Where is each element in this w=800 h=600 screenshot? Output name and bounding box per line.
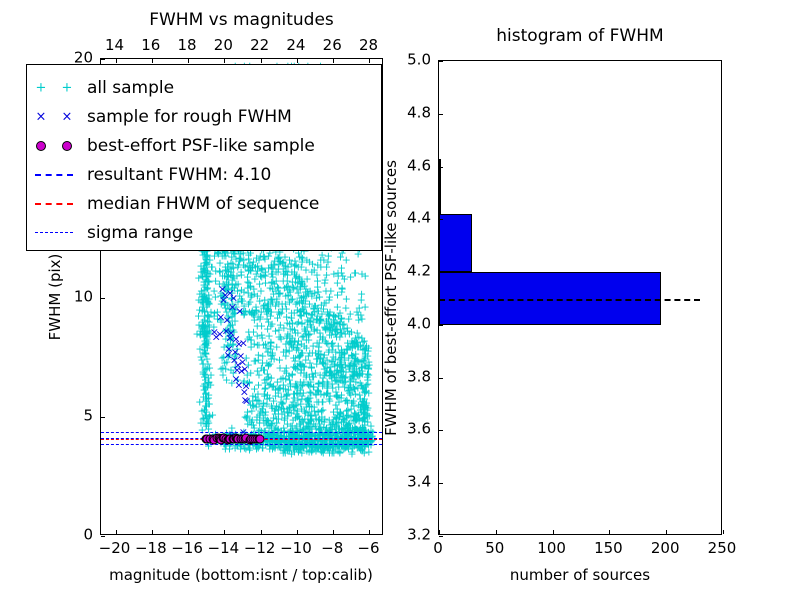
scatter-point-all: +: [249, 327, 258, 338]
scatter-point-all: +: [310, 287, 319, 298]
scatter-point-all: +: [280, 407, 289, 418]
scatter-point-all: +: [293, 360, 302, 371]
scatter-point-all: +: [297, 278, 306, 289]
scatter-point-all: +: [347, 448, 356, 459]
scatter-point-all: +: [297, 261, 306, 272]
scatter-point-all: +: [203, 316, 212, 327]
histogram-plot-area: [439, 61, 721, 534]
scatter-point-all: +: [198, 297, 207, 308]
scatter-point-all: +: [260, 410, 269, 421]
x-tick-top: [116, 59, 117, 63]
hist-y-tick: [439, 536, 443, 537]
scatter-point-all: +: [200, 266, 209, 277]
scatter-point-all: +: [244, 265, 253, 276]
scatter-point-all: +: [199, 319, 208, 330]
scatter-point-all: +: [222, 306, 231, 317]
scatter-point-all: +: [329, 309, 338, 320]
scatter-point-all: +: [277, 298, 286, 309]
scatter-point-all: +: [239, 306, 248, 317]
scatter-point-all: +: [362, 399, 371, 410]
scatter-point-all: +: [305, 256, 314, 267]
scatter-point-all: +: [315, 337, 324, 348]
scatter-point-all: +: [199, 392, 208, 403]
scatter-point-all: +: [344, 364, 353, 375]
scatter-point-all: +: [202, 353, 211, 364]
scatter-point-all: +: [304, 447, 313, 458]
scatter-point-all: +: [315, 328, 324, 339]
scatter-point-all: +: [335, 307, 344, 318]
scatter-point-all: +: [338, 283, 347, 294]
scatter-point-all: +: [338, 271, 347, 282]
scatter-point-all: +: [314, 378, 323, 389]
scatter-point-all: +: [341, 302, 350, 313]
scatter-point-all: +: [297, 393, 306, 404]
scatter-point-all: +: [305, 372, 314, 383]
scatter-point-all: +: [337, 389, 346, 400]
hist-x-tick: [723, 530, 724, 534]
scatter-point-all: +: [227, 278, 236, 289]
scatter-point-all: +: [350, 352, 359, 363]
scatter-point-all: +: [216, 290, 225, 301]
scatter-point-all: +: [318, 404, 327, 415]
scatter-point-rough: ×: [239, 337, 248, 348]
scatter-point-all: +: [316, 315, 325, 326]
plus-icon: +: [62, 81, 73, 94]
dashed-blue-icon: [35, 174, 73, 176]
scatter-point-all: +: [267, 353, 276, 364]
x-tick-top: [152, 59, 153, 63]
scatter-point-all: +: [347, 398, 356, 409]
scatter-point-all: +: [343, 326, 352, 337]
scatter-point-all: +: [200, 291, 209, 302]
scatter-point-all: +: [278, 372, 287, 383]
scatter-point-all: +: [240, 301, 249, 312]
scatter-point-all: +: [274, 307, 283, 318]
scatter-point-all: +: [222, 325, 231, 336]
scatter-point-all: +: [203, 270, 212, 281]
scatter-point-all: +: [230, 307, 239, 318]
scatter-point-all: +: [343, 421, 352, 432]
scatter-point-all: +: [356, 339, 365, 350]
scatter-point-all: +: [223, 261, 232, 272]
scatter-point-all: +: [345, 379, 354, 390]
scatter-point-all: +: [270, 278, 279, 289]
scatter-point-all: +: [202, 340, 211, 351]
scatter-point-all: +: [318, 396, 327, 407]
scatter-point-all: +: [350, 364, 359, 375]
scatter-point-all: +: [236, 253, 245, 264]
scatter-point-all: +: [288, 294, 297, 305]
scatter-point-all: +: [264, 250, 273, 261]
x-tick-bottom: [297, 530, 298, 534]
scatter-point-all: +: [261, 378, 270, 389]
scatter-point-all: +: [361, 270, 370, 281]
scatter-point-all: +: [253, 320, 262, 331]
scatter-point-all: +: [199, 280, 208, 291]
scatter-point-rough: ×: [222, 315, 231, 326]
scatter-point-all: +: [332, 369, 341, 380]
scatter-point-all: +: [331, 347, 340, 358]
scatter-point-all: +: [197, 292, 206, 303]
scatter-point-all: +: [297, 441, 306, 452]
scatter-point-all: +: [307, 362, 316, 373]
scatter-point-all: +: [307, 310, 316, 321]
scatter-point-all: +: [291, 272, 300, 283]
scatter-point-all: +: [263, 303, 272, 314]
scatter-point-all: +: [260, 365, 269, 376]
scatter-point-all: +: [329, 268, 338, 279]
scatter-point-all: +: [217, 363, 226, 374]
scatter-point-all: +: [358, 368, 367, 379]
scatter-point-all: +: [293, 304, 302, 315]
scatter-point-all: +: [203, 296, 212, 307]
scatter-point-all: +: [328, 446, 337, 457]
scatter-point-all: +: [254, 355, 263, 366]
scatter-point-all: +: [304, 289, 313, 300]
scatter-point-all: +: [285, 375, 294, 386]
scatter-point-all: +: [319, 359, 328, 370]
scatter-point-all: +: [287, 312, 296, 323]
scatter-point-all: +: [306, 376, 315, 387]
scatter-point-all: +: [200, 321, 209, 332]
scatter-point-all: +: [337, 352, 346, 363]
scatter-point-all: +: [314, 349, 323, 360]
scatter-point-all: +: [359, 413, 368, 424]
scatter-point-all: +: [314, 306, 323, 317]
scatter-point-all: +: [355, 303, 364, 314]
scatter-point-all: +: [274, 402, 283, 413]
scatter-point-all: +: [304, 379, 313, 390]
scatter-point-rough: ×: [225, 333, 234, 344]
scatter-point-all: +: [266, 340, 275, 351]
scatter-point-all: +: [195, 305, 204, 316]
hist-y-ticklabel: 4.2: [407, 264, 431, 279]
scatter-point-all: +: [300, 414, 309, 425]
scatter-point-all: +: [244, 287, 253, 298]
scatter-point-all: +: [361, 424, 370, 435]
scatter-point-all: +: [359, 401, 368, 412]
scatter-point-all: +: [333, 432, 342, 443]
scatter-point-all: +: [337, 347, 346, 358]
scatter-point-all: +: [199, 294, 208, 305]
scatter-point-all: +: [226, 320, 235, 331]
x-ticklabel-bottom: −10: [280, 541, 312, 556]
scatter-point-all: +: [259, 269, 268, 280]
scatter-point-all: +: [338, 441, 347, 452]
scatter-point-all: +: [199, 264, 208, 275]
scatter-point-all: +: [360, 442, 369, 453]
scatter-point-all: +: [257, 320, 266, 331]
scatter-point-all: +: [261, 415, 270, 426]
scatter-point-all: +: [280, 444, 289, 455]
scatter-point-all: +: [349, 383, 358, 394]
scatter-point-all: +: [307, 446, 316, 457]
scatter-point-all: +: [281, 299, 290, 310]
x-tick-top: [297, 59, 298, 63]
scatter-point-all: +: [260, 300, 269, 311]
scatter-point-all: +: [196, 330, 205, 341]
scatter-point-all: +: [198, 250, 207, 261]
scatter-point-rough: ×: [242, 396, 251, 407]
scatter-point-all: +: [270, 404, 279, 415]
scatter-point-all: +: [280, 446, 289, 457]
scatter-point-all: +: [296, 350, 305, 361]
scatter-point-all: +: [266, 311, 275, 322]
scatter-point-all: +: [312, 397, 321, 408]
scatter-point-all: +: [299, 368, 308, 379]
scatter-point-all: +: [347, 447, 356, 458]
scatter-point-all: +: [332, 390, 341, 401]
scatter-point-all: +: [328, 440, 337, 451]
scatter-point-all: +: [295, 284, 304, 295]
scatter-point-all: +: [245, 306, 254, 317]
scatter-point-all: +: [297, 348, 306, 359]
scatter-point-all: +: [203, 381, 212, 392]
scatter-point-all: +: [297, 339, 306, 350]
scatter-point-all: +: [199, 302, 208, 313]
scatter-point-all: +: [346, 271, 355, 282]
scatter-point-all: +: [312, 337, 321, 348]
scatter-point-all: +: [262, 399, 271, 410]
scatter-point-all: +: [297, 404, 306, 415]
scatter-point-all: +: [349, 381, 358, 392]
scatter-point-all: +: [314, 350, 323, 361]
scatter-point-all: +: [343, 421, 352, 432]
scatter-point-all: +: [288, 369, 297, 380]
scatter-point-all: +: [267, 277, 276, 288]
scatter-point-all: +: [320, 417, 329, 428]
scatter-point-all: +: [324, 314, 333, 325]
scatter-point-all: +: [249, 284, 258, 295]
scatter-point-all: +: [260, 251, 269, 262]
scatter-point-all: +: [272, 342, 281, 353]
scatter-point-all: +: [194, 310, 203, 321]
scatter-point-all: +: [327, 368, 336, 379]
scatter-point-all: +: [294, 445, 303, 456]
scatter-point-all: +: [199, 332, 208, 343]
scatter-point-all: +: [358, 344, 367, 355]
scatter-point-all: +: [260, 295, 269, 306]
y-ticklabel: 0: [83, 528, 93, 543]
scatter-point-all: +: [313, 287, 322, 298]
scatter-point-all: +: [360, 412, 369, 423]
scatter-point-rough: ×: [221, 290, 230, 301]
scatter-point-all: +: [346, 411, 355, 422]
scatter-point-all: +: [349, 366, 358, 377]
scatter-point-all: +: [297, 276, 306, 287]
scatter-point-all: +: [336, 252, 345, 263]
scatter-point-all: +: [263, 299, 272, 310]
scatter-point-all: +: [251, 261, 260, 272]
scatter-point-all: +: [334, 271, 343, 282]
scatter-point-all: +: [256, 251, 265, 262]
scatter-point-all: +: [311, 446, 320, 457]
scatter-point-all: +: [201, 295, 210, 306]
scatter-point-all: +: [358, 337, 367, 348]
scatter-point-all: +: [224, 351, 233, 362]
scatter-point-all: +: [305, 348, 314, 359]
scatter-point-all: +: [363, 378, 372, 389]
scatter-point-all: +: [221, 265, 230, 276]
scatter-point-all: +: [327, 370, 336, 381]
x-ticklabel-top: 14: [105, 38, 124, 53]
x-tick-top: [224, 59, 225, 63]
scatter-point-all: +: [255, 418, 264, 429]
scatter-point-all: +: [264, 347, 273, 358]
scatter-point-all: +: [357, 295, 366, 306]
scatter-point-all: +: [341, 366, 350, 377]
hist-y-ticklabel: 3.4: [407, 475, 431, 490]
scatter-point-all: +: [229, 263, 238, 274]
scatter-point-all: +: [292, 388, 301, 399]
scatter-point-all: +: [250, 307, 259, 318]
scatter-point-all: +: [250, 273, 259, 284]
scatter-point-all: +: [273, 252, 282, 263]
scatter-point-all: +: [203, 250, 212, 261]
scatter-point-all: +: [286, 323, 295, 334]
scatter-point-all: +: [341, 395, 350, 406]
scatter-point-all: +: [297, 275, 306, 286]
scatter-point-all: +: [318, 334, 327, 345]
hist-x-tick: [439, 530, 440, 534]
scatter-point-all: +: [200, 262, 209, 273]
scatter-point-rough: ×: [228, 302, 237, 313]
scatter-point-all: +: [218, 250, 227, 261]
scatter-point-all: +: [330, 361, 339, 372]
scatter-point-all: +: [325, 310, 334, 321]
scatter-point-all: +: [295, 298, 304, 309]
scatter-point-all: +: [204, 277, 213, 288]
scatter-point-all: +: [202, 414, 211, 425]
scatter-point-all: +: [365, 411, 374, 422]
scatter-point-all: +: [330, 368, 339, 379]
hist-x-ticklabel: 100: [537, 541, 566, 556]
scatter-point-all: +: [296, 307, 305, 318]
scatter-point-all: +: [350, 407, 359, 418]
scatter-point-all: +: [313, 281, 322, 292]
scatter-point-all: +: [249, 401, 258, 412]
scatter-point-all: +: [299, 303, 308, 314]
scatter-point-all: +: [333, 410, 342, 421]
scatter-point-all: +: [358, 356, 367, 367]
scatter-point-all: +: [224, 310, 233, 321]
scatter-point-all: +: [298, 424, 307, 435]
scatter-point-all: +: [314, 287, 323, 298]
scatter-point-all: +: [226, 263, 235, 274]
scatter-point-all: +: [279, 275, 288, 286]
scatter-point-all: +: [295, 272, 304, 283]
scatter-point-all: +: [338, 377, 347, 388]
scatter-point-all: +: [339, 349, 348, 360]
scatter-point-all: +: [204, 398, 213, 409]
scatter-point-all: +: [267, 373, 276, 384]
scatter-point-all: +: [338, 362, 347, 373]
scatter-point-all: +: [324, 250, 333, 261]
scatter-point-all: +: [281, 266, 290, 277]
scatter-point-all: +: [255, 425, 264, 436]
scatter-point-all: +: [272, 400, 281, 411]
x-tick-bottom: [188, 530, 189, 534]
scatter-point-all: +: [353, 425, 362, 436]
scatter-point-all: +: [344, 352, 353, 363]
scatter-point-all: +: [276, 331, 285, 342]
scatter-point-all: +: [289, 282, 298, 293]
scatter-point-all: +: [357, 379, 366, 390]
scatter-point-all: +: [278, 257, 287, 268]
scatter-point-all: +: [298, 297, 307, 308]
scatter-point-all: +: [323, 379, 332, 390]
scatter-point-all: +: [203, 309, 212, 320]
scatter-point-all: +: [351, 340, 360, 351]
scatter-point-all: +: [252, 444, 261, 455]
scatter-point-all: +: [345, 384, 354, 395]
scatter-point-all: +: [202, 271, 211, 282]
scatter-point-all: +: [223, 324, 232, 335]
scatter-point-all: +: [205, 254, 214, 265]
hist-y-tick: [439, 430, 443, 431]
scatter-point-all: +: [351, 414, 360, 425]
scatter-point-all: +: [201, 297, 210, 308]
scatter-point-all: +: [221, 325, 230, 336]
scatter-point-all: +: [322, 425, 331, 436]
scatter-point-all: +: [273, 266, 282, 277]
scatter-point-all: +: [290, 382, 299, 393]
scatter-point-all: +: [244, 299, 253, 310]
scatter-point-all: +: [209, 286, 218, 297]
scatter-point-all: +: [337, 327, 346, 338]
scatter-point-all: +: [271, 384, 280, 395]
scatter-point-all: +: [220, 300, 229, 311]
scatter-point-all: +: [304, 350, 313, 361]
scatter-point-all: +: [278, 398, 287, 409]
scatter-point-all: +: [337, 313, 346, 324]
scatter-point-all: +: [205, 298, 214, 309]
scatter-point-all: +: [332, 420, 341, 431]
scatter-point-all: +: [208, 262, 217, 273]
scatter-point-all: +: [289, 396, 298, 407]
scatter-point-all: +: [361, 441, 370, 452]
scatter-point-all: +: [334, 445, 343, 456]
scatter-point-all: +: [259, 401, 268, 412]
scatter-point-all: +: [314, 378, 323, 389]
scatter-point-all: +: [359, 383, 368, 394]
scatter-point-all: +: [264, 305, 273, 316]
scatter-point-all: +: [282, 303, 291, 314]
scatter-point-all: +: [358, 445, 367, 456]
scatter-point-all: +: [198, 288, 207, 299]
scatter-point-all: +: [245, 377, 254, 388]
scatter-point-all: +: [199, 266, 208, 277]
scatter-point-all: +: [335, 360, 344, 371]
scatter-point-all: +: [279, 444, 288, 455]
scatter-point-all: +: [354, 410, 363, 421]
scatter-point-all: +: [362, 360, 371, 371]
scatter-point-all: +: [335, 440, 344, 451]
scatter-point-all: +: [275, 382, 284, 393]
scatter-point-all: +: [279, 440, 288, 451]
scatter-point-all: +: [320, 350, 329, 361]
scatter-point-all: +: [241, 306, 250, 317]
scatter-point-all: +: [356, 394, 365, 405]
scatter-point-all: +: [352, 413, 361, 424]
scatter-point-all: +: [349, 337, 358, 348]
scatter-point-all: +: [307, 267, 316, 278]
scatter-point-all: +: [273, 312, 282, 323]
scatter-point-all: +: [276, 373, 285, 384]
scatter-point-all: +: [200, 322, 209, 333]
scatter-point-all: +: [324, 310, 333, 321]
scatter-point-all: +: [314, 407, 323, 418]
